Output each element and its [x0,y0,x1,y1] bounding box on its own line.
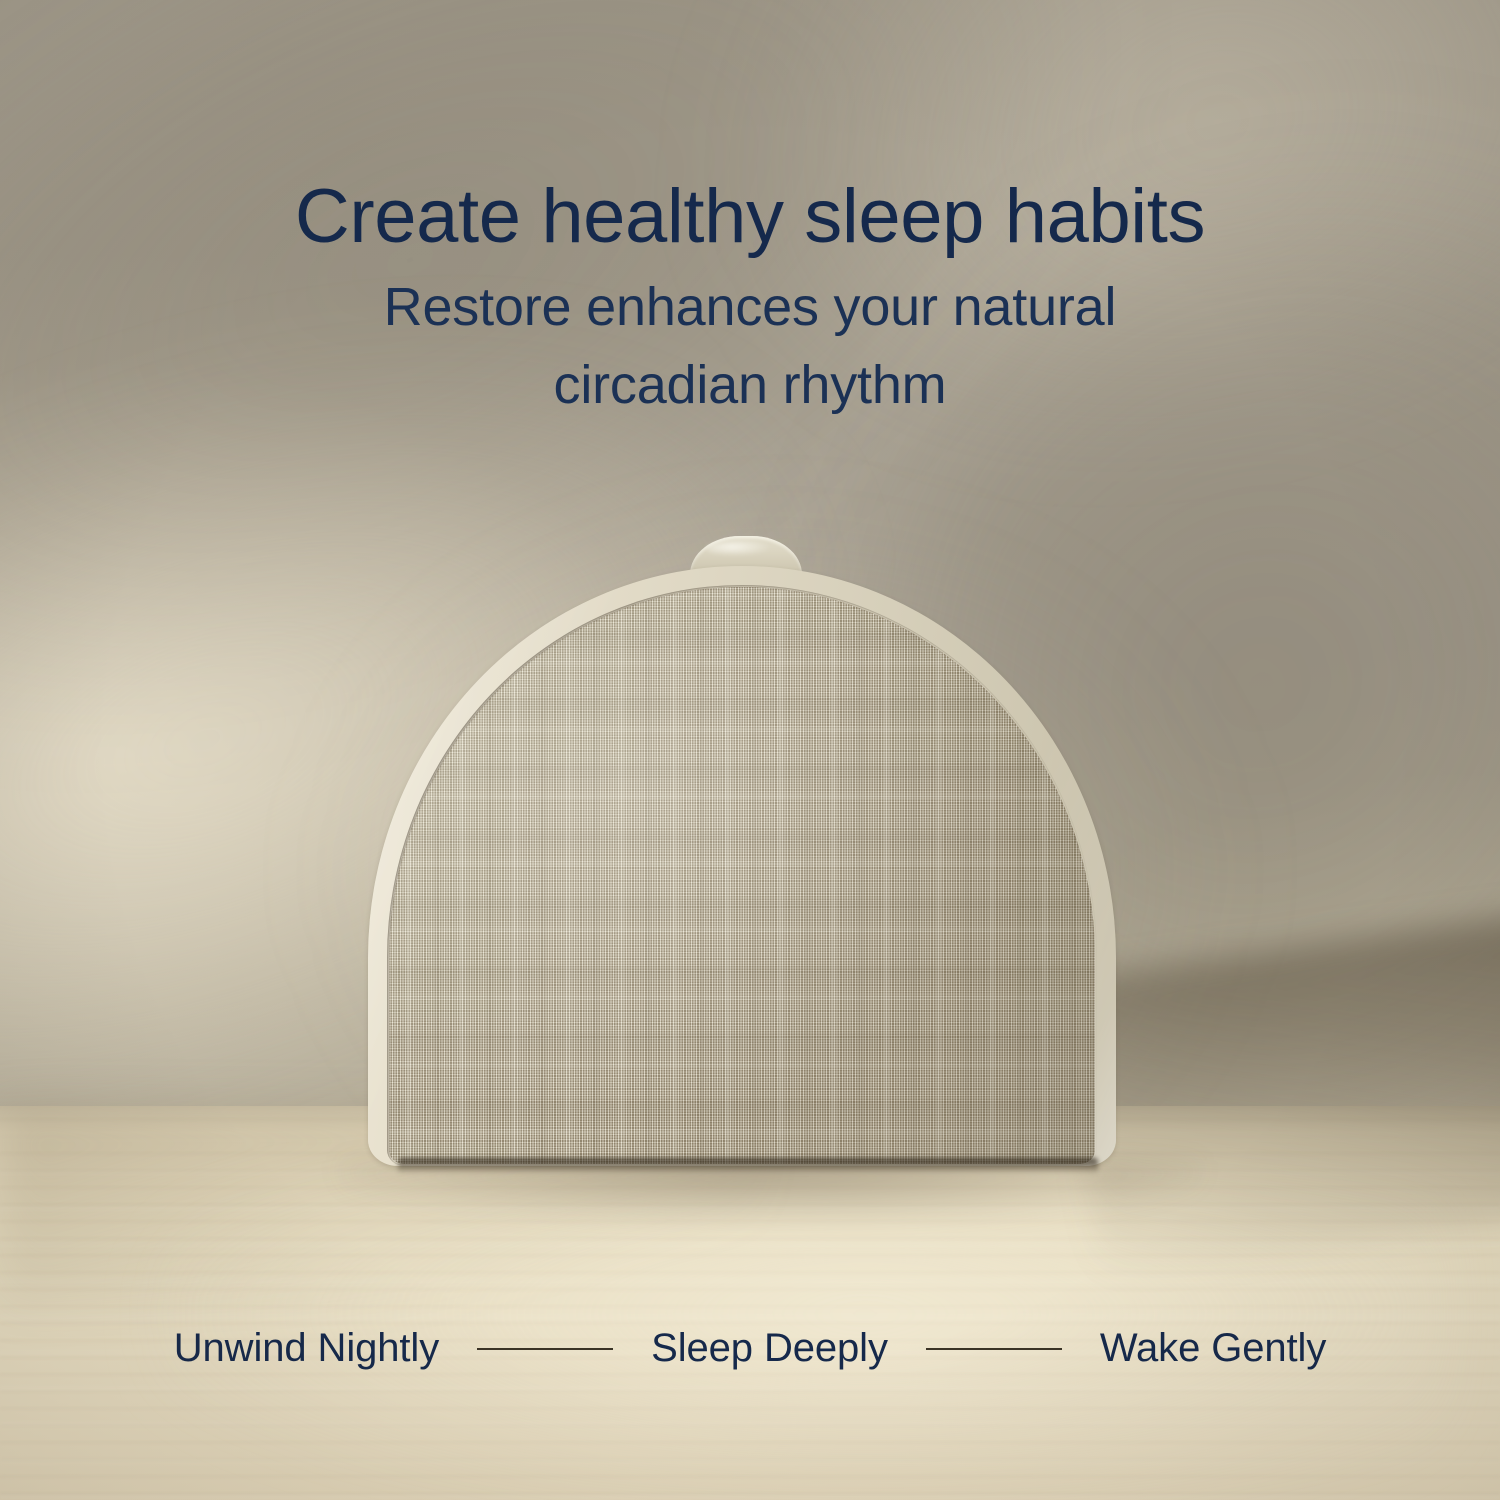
step-label-unwind-nightly: Unwind Nightly [174,1326,439,1371]
device-fabric-panel [389,587,1095,1164]
page-subtitle-line-2: circadian rhythm [0,346,1500,424]
step-connector-2-icon [926,1348,1062,1350]
device-contact-shadow [398,1158,1098,1174]
sleep-cycle-steps: Unwind Nightly Sleep Deeply Wake Gently [0,1326,1500,1371]
step-label-wake-gently: Wake Gently [1100,1326,1326,1371]
step-connector-1-icon [477,1348,613,1350]
page-subtitle: Restore enhances your natural circadian … [0,268,1500,425]
product-marketing-scene: Create healthy sleep habits Restore enha… [0,0,1500,1500]
restore-sleep-device[interactable] [368,566,1116,1166]
step-label-sleep-deeply: Sleep Deeply [651,1326,888,1371]
page-subtitle-line-1: Restore enhances your natural [0,268,1500,346]
fabric-shading [389,587,1095,1164]
page-title: Create healthy sleep habits [0,179,1500,255]
